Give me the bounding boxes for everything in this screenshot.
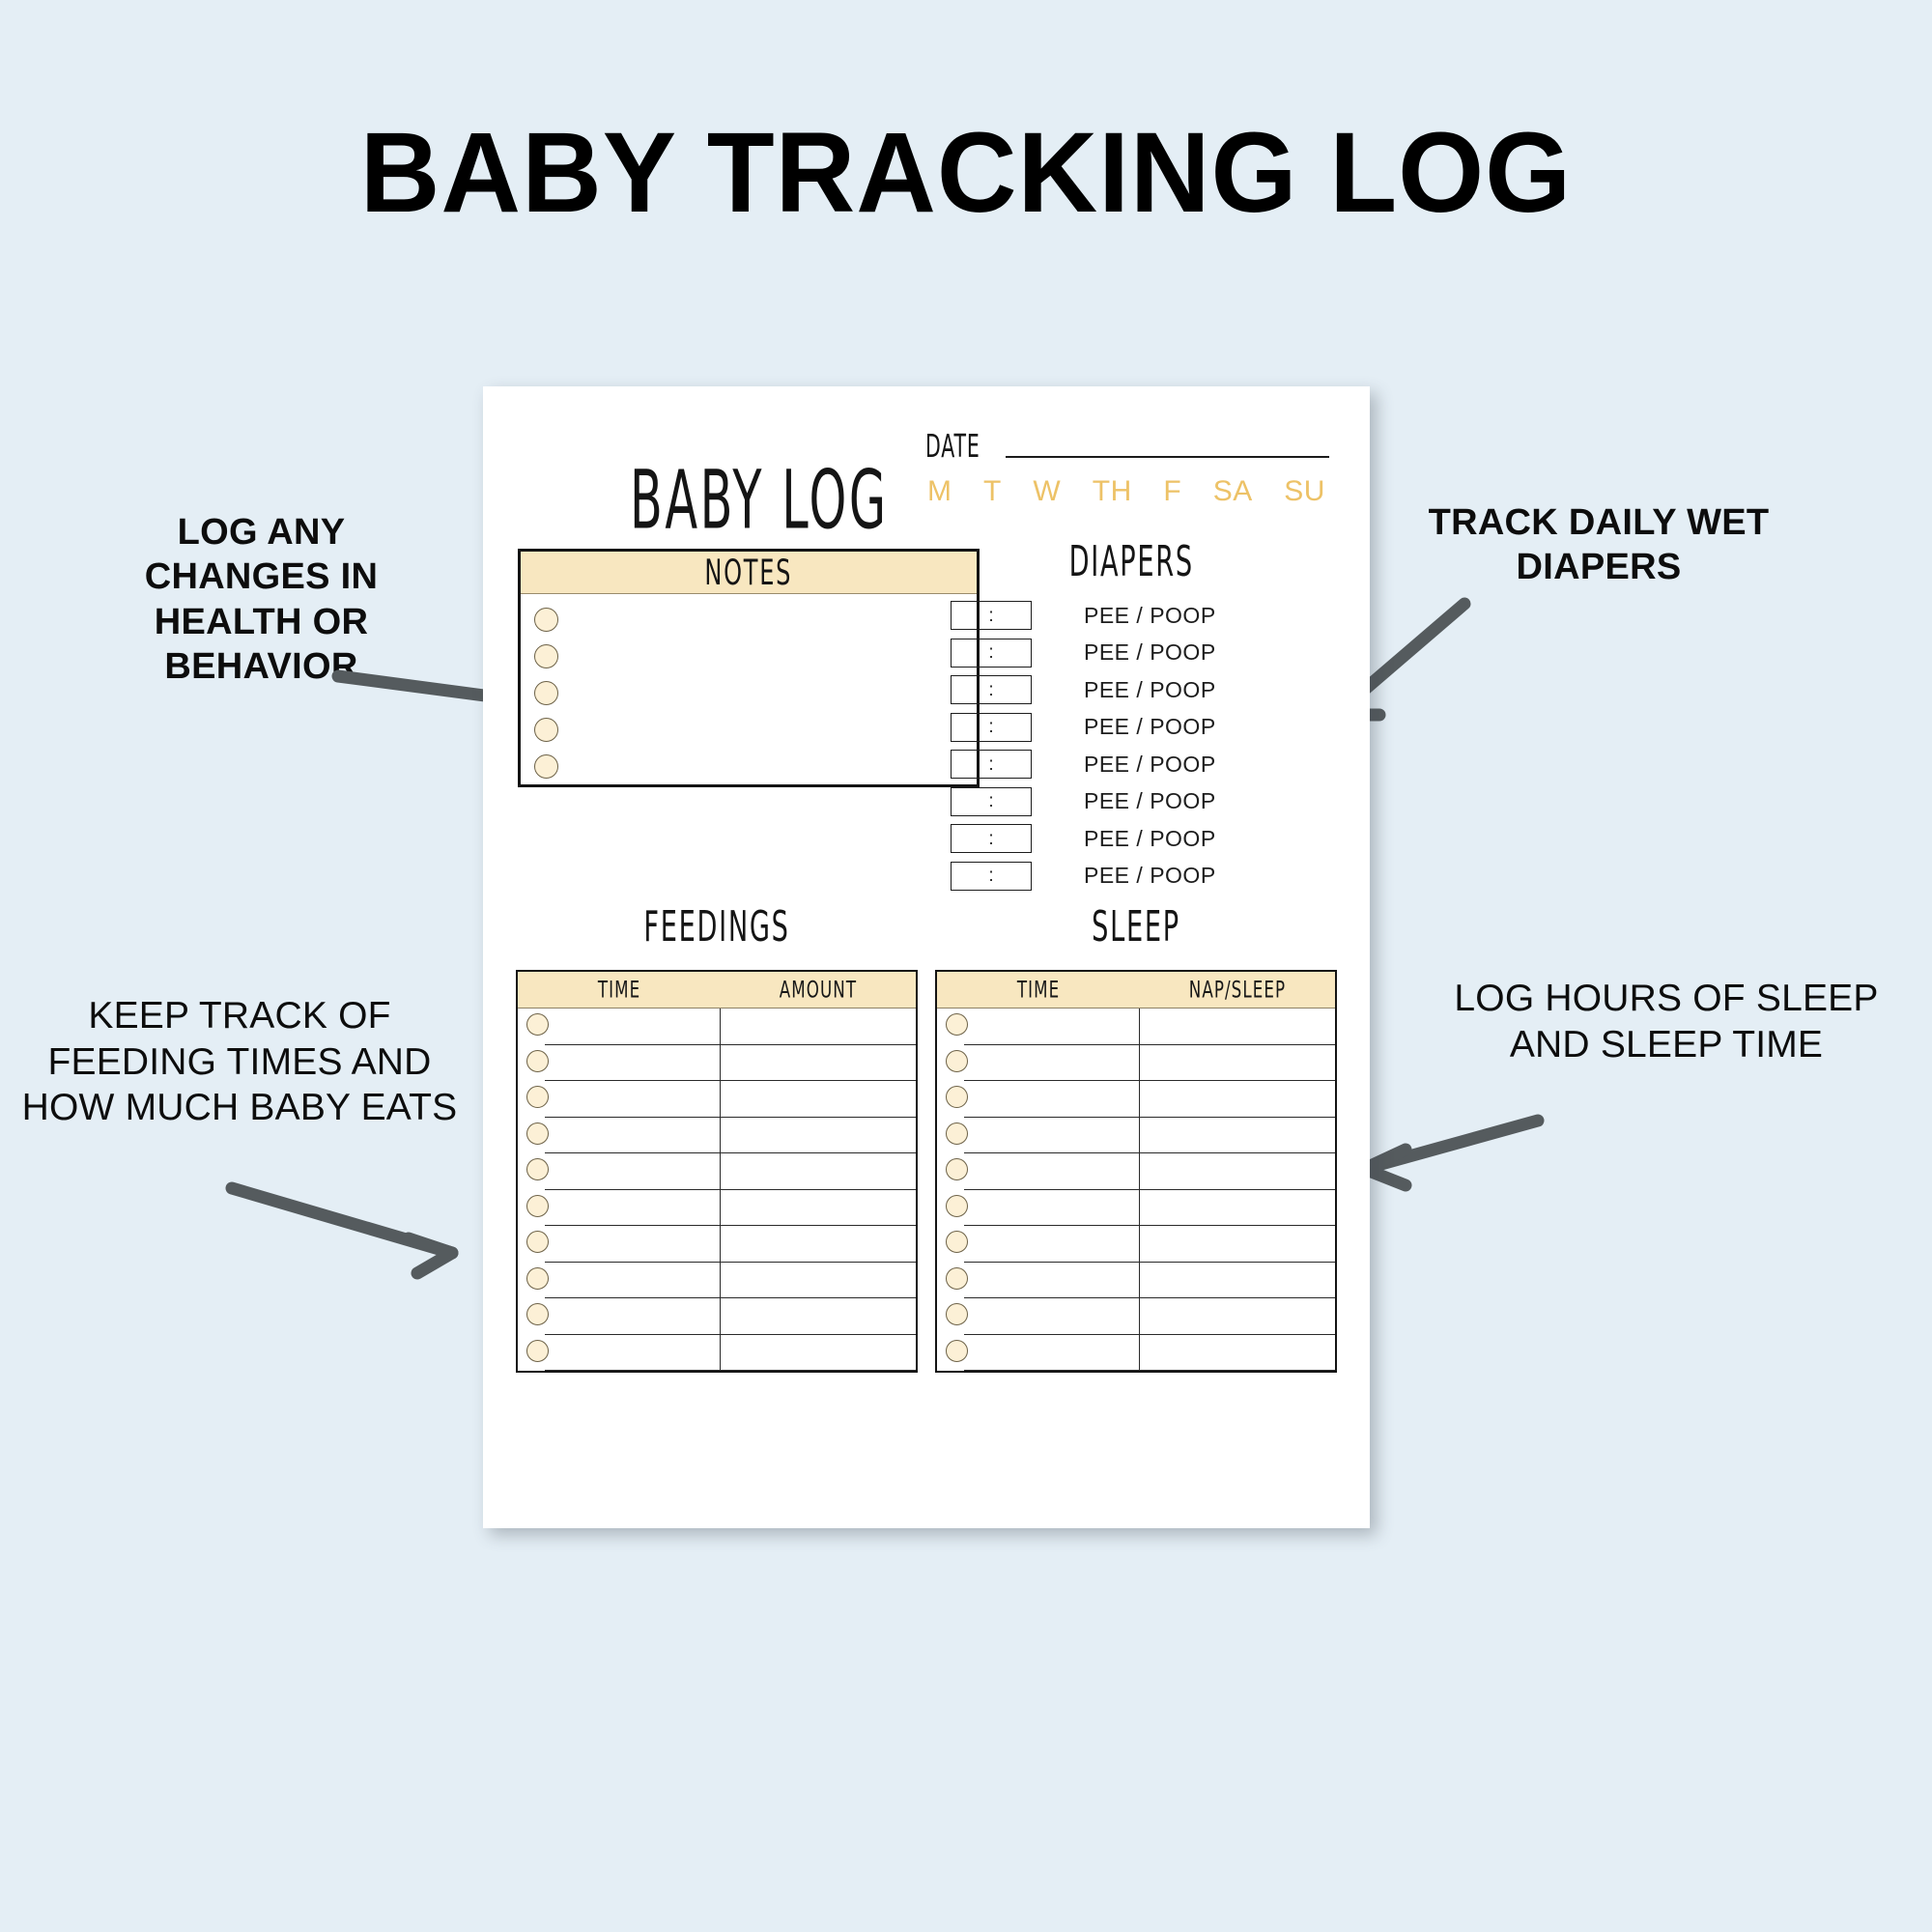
sleep-col-time: TIME bbox=[950, 968, 1128, 1012]
diaper-type-label[interactable]: PEE / POOP bbox=[1084, 677, 1216, 703]
sleep-col-nap: NAP/SLEEP bbox=[1151, 968, 1323, 1012]
diaper-row: :PEE / POOP bbox=[951, 824, 1337, 853]
diaper-time-input[interactable]: : bbox=[951, 787, 1032, 816]
feedings-block: FEEDINGS TIME AMOUNT bbox=[516, 908, 918, 1373]
diaper-time-input[interactable]: : bbox=[951, 750, 1032, 779]
row-time-cell[interactable] bbox=[518, 1118, 721, 1154]
feedings-col-amount: AMOUNT bbox=[732, 968, 904, 1012]
notes-bullet[interactable] bbox=[534, 681, 558, 705]
row-time-cell[interactable] bbox=[518, 1226, 721, 1263]
row-time-cell[interactable] bbox=[518, 1009, 721, 1045]
feedings-row bbox=[518, 1045, 916, 1082]
row-time-cell[interactable] bbox=[937, 1081, 1140, 1118]
row-bullet[interactable] bbox=[526, 1122, 549, 1145]
row-value-cell[interactable] bbox=[721, 1009, 916, 1045]
feedings-row bbox=[518, 1298, 916, 1335]
feedings-row bbox=[518, 1226, 916, 1263]
row-time-cell[interactable] bbox=[518, 1190, 721, 1227]
row-time-cell[interactable] bbox=[937, 1153, 1140, 1190]
row-time-cell[interactable] bbox=[518, 1335, 721, 1372]
diaper-time-input[interactable]: : bbox=[951, 713, 1032, 742]
weekday-t[interactable]: T bbox=[983, 475, 1002, 508]
row-time-cell[interactable] bbox=[518, 1045, 721, 1082]
diaper-type-label[interactable]: PEE / POOP bbox=[1084, 863, 1216, 889]
weekday-su[interactable]: SU bbox=[1284, 475, 1325, 508]
notes-bullet[interactable] bbox=[534, 608, 558, 632]
sleep-row bbox=[937, 1118, 1335, 1154]
weekday-f[interactable]: F bbox=[1163, 475, 1181, 508]
sleep-row bbox=[937, 1263, 1335, 1299]
row-bullet[interactable] bbox=[946, 1340, 968, 1362]
baby-log-sheet: BABY LOG DATE M T W TH F SA SU bbox=[483, 386, 1370, 1528]
sleep-row bbox=[937, 1190, 1335, 1227]
row-time-cell[interactable] bbox=[518, 1081, 721, 1118]
diaper-type-label[interactable]: PEE / POOP bbox=[1084, 788, 1216, 814]
row-rule bbox=[545, 1370, 916, 1371]
sheet-bottom-row: FEEDINGS TIME AMOUNT SLEEP TIME NAP/SLEE… bbox=[516, 908, 1337, 1373]
diaper-type-label[interactable]: PEE / POOP bbox=[1084, 603, 1216, 629]
row-value-cell[interactable] bbox=[1140, 1190, 1335, 1227]
sleep-row bbox=[937, 1153, 1335, 1190]
row-bullet[interactable] bbox=[526, 1231, 549, 1253]
sleep-row bbox=[937, 1081, 1335, 1118]
row-bullet[interactable] bbox=[946, 1267, 968, 1290]
weekday-m[interactable]: M bbox=[927, 475, 952, 508]
row-time-cell[interactable] bbox=[518, 1263, 721, 1299]
feedings-row bbox=[518, 1263, 916, 1299]
row-bullet[interactable] bbox=[526, 1013, 549, 1036]
feedings-row bbox=[518, 1190, 916, 1227]
row-value-cell[interactable] bbox=[1140, 1045, 1335, 1082]
weekday-w[interactable]: W bbox=[1033, 475, 1061, 508]
feedings-table: TIME AMOUNT bbox=[516, 970, 918, 1373]
diaper-type-label[interactable]: PEE / POOP bbox=[1084, 826, 1216, 852]
diaper-row: :PEE / POOP bbox=[951, 787, 1337, 816]
annotation-notes: LOG ANY CHANGES IN HEALTH OR BEHAVIOR bbox=[95, 510, 428, 689]
sleep-row bbox=[937, 1335, 1335, 1372]
row-time-cell[interactable] bbox=[937, 1263, 1140, 1299]
row-value-cell[interactable] bbox=[1140, 1009, 1335, 1045]
row-time-cell[interactable] bbox=[518, 1153, 721, 1190]
weekday-selector[interactable]: M T W TH F SA SU bbox=[925, 475, 1329, 508]
sleep-table-header: TIME NAP/SLEEP bbox=[937, 972, 1335, 1009]
row-time-cell[interactable] bbox=[518, 1298, 721, 1335]
weekday-sa[interactable]: SA bbox=[1213, 475, 1253, 508]
sleep-row bbox=[937, 1009, 1335, 1045]
date-block: DATE M T W TH F SA SU bbox=[925, 437, 1329, 508]
row-bullet[interactable] bbox=[946, 1303, 968, 1325]
row-value-cell[interactable] bbox=[1140, 1153, 1335, 1190]
sleep-block: SLEEP TIME NAP/SLEEP bbox=[935, 908, 1337, 1373]
row-time-cell[interactable] bbox=[937, 1190, 1140, 1227]
date-label: DATE bbox=[925, 428, 980, 465]
weekday-th[interactable]: TH bbox=[1093, 475, 1132, 508]
row-time-cell[interactable] bbox=[937, 1335, 1140, 1372]
annotation-diapers: TRACK DAILY WET DIAPERS bbox=[1391, 500, 1806, 590]
row-bullet[interactable] bbox=[526, 1086, 549, 1108]
feedings-table-header: TIME AMOUNT bbox=[518, 972, 916, 1009]
row-bullet[interactable] bbox=[946, 1158, 968, 1180]
row-time-cell[interactable] bbox=[937, 1226, 1140, 1263]
row-value-cell[interactable] bbox=[721, 1335, 916, 1372]
feedings-row bbox=[518, 1081, 916, 1118]
row-bullet[interactable] bbox=[946, 1231, 968, 1253]
row-value-cell[interactable] bbox=[721, 1226, 916, 1263]
row-time-cell[interactable] bbox=[937, 1118, 1140, 1154]
date-input-line[interactable] bbox=[1006, 456, 1329, 458]
row-bullet[interactable] bbox=[946, 1195, 968, 1217]
diaper-type-label[interactable]: PEE / POOP bbox=[1084, 714, 1216, 740]
sleep-title: SLEEP bbox=[965, 901, 1307, 951]
feedings-row bbox=[518, 1335, 916, 1372]
diaper-time-input[interactable]: : bbox=[951, 675, 1032, 704]
row-bullet[interactable] bbox=[526, 1195, 549, 1217]
row-value-cell[interactable] bbox=[721, 1190, 916, 1227]
diaper-row: :PEE / POOP bbox=[951, 713, 1337, 742]
notes-bullet[interactable] bbox=[534, 718, 558, 742]
feedings-row bbox=[518, 1118, 916, 1154]
sheet-title: BABY LOG bbox=[630, 452, 889, 548]
row-rule bbox=[964, 1370, 1335, 1371]
row-value-cell[interactable] bbox=[1140, 1263, 1335, 1299]
diaper-time-input[interactable]: : bbox=[951, 824, 1032, 853]
notes-bullet[interactable] bbox=[534, 644, 558, 668]
feedings-title: FEEDINGS bbox=[546, 901, 888, 951]
sleep-table: TIME NAP/SLEEP bbox=[935, 970, 1337, 1373]
row-value-cell[interactable] bbox=[1140, 1118, 1335, 1154]
sleep-row bbox=[937, 1298, 1335, 1335]
diapers-panel: DIAPERS :PEE / POOP:PEE / POOP:PEE / POO… bbox=[951, 543, 1337, 898]
row-value-cell[interactable] bbox=[721, 1081, 916, 1118]
sleep-table-body bbox=[937, 1009, 1335, 1371]
diaper-row: :PEE / POOP bbox=[951, 862, 1337, 891]
row-value-cell[interactable] bbox=[1140, 1226, 1335, 1263]
diaper-type-label[interactable]: PEE / POOP bbox=[1084, 752, 1216, 778]
annotation-sleep: LOG HOURS OF SLEEP AND SLEEP TIME bbox=[1425, 976, 1908, 1067]
row-bullet[interactable] bbox=[526, 1267, 549, 1290]
notes-panel: NOTES bbox=[518, 549, 980, 787]
notes-body[interactable] bbox=[521, 594, 977, 782]
row-value-cell[interactable] bbox=[721, 1045, 916, 1082]
row-bullet[interactable] bbox=[526, 1050, 549, 1072]
annotation-feedings: KEEP TRACK OF FEEDING TIMES AND HOW MUCH… bbox=[17, 993, 462, 1131]
feedings-row bbox=[518, 1009, 916, 1045]
row-time-cell[interactable] bbox=[937, 1009, 1140, 1045]
row-bullet[interactable] bbox=[946, 1050, 968, 1072]
arrow-feedings bbox=[232, 1188, 452, 1253]
row-value-cell[interactable] bbox=[1140, 1081, 1335, 1118]
row-bullet[interactable] bbox=[946, 1122, 968, 1145]
row-value-cell[interactable] bbox=[721, 1263, 916, 1299]
row-bullet[interactable] bbox=[526, 1158, 549, 1180]
diaper-row: :PEE / POOP bbox=[951, 639, 1337, 668]
sleep-row bbox=[937, 1045, 1335, 1082]
diaper-time-input[interactable]: : bbox=[951, 601, 1032, 630]
page-title: BABY TRACKING LOG bbox=[29, 114, 1903, 234]
row-value-cell[interactable] bbox=[1140, 1335, 1335, 1372]
arrow-sleep bbox=[1364, 1121, 1538, 1169]
row-value-cell[interactable] bbox=[721, 1153, 916, 1190]
notes-header: NOTES bbox=[521, 552, 977, 594]
diaper-row: :PEE / POOP bbox=[951, 675, 1337, 704]
row-time-cell[interactable] bbox=[937, 1298, 1140, 1335]
notes-header-label: NOTES bbox=[705, 552, 793, 593]
diapers-list: :PEE / POOP:PEE / POOP:PEE / POOP:PEE / … bbox=[951, 601, 1337, 891]
feedings-row bbox=[518, 1153, 916, 1190]
row-value-cell[interactable] bbox=[1140, 1298, 1335, 1335]
feedings-col-time: TIME bbox=[530, 968, 709, 1012]
diaper-time-input[interactable]: : bbox=[951, 639, 1032, 668]
row-bullet[interactable] bbox=[526, 1303, 549, 1325]
sleep-row bbox=[937, 1226, 1335, 1263]
diaper-type-label[interactable]: PEE / POOP bbox=[1084, 639, 1216, 666]
diaper-time-input[interactable]: : bbox=[951, 862, 1032, 891]
row-value-cell[interactable] bbox=[721, 1118, 916, 1154]
sheet-mid-row: NOTES DIAPERS :PEE / POOP:PEE / POOP:PEE… bbox=[516, 609, 1337, 858]
row-bullet[interactable] bbox=[946, 1013, 968, 1036]
notes-bullet[interactable] bbox=[534, 754, 558, 779]
diaper-row: :PEE / POOP bbox=[951, 601, 1337, 630]
feedings-table-body bbox=[518, 1009, 916, 1371]
row-bullet[interactable] bbox=[526, 1340, 549, 1362]
diaper-row: :PEE / POOP bbox=[951, 750, 1337, 779]
diapers-title: DIAPERS bbox=[980, 536, 1308, 585]
row-value-cell[interactable] bbox=[721, 1298, 916, 1335]
row-bullet[interactable] bbox=[946, 1086, 968, 1108]
row-time-cell[interactable] bbox=[937, 1045, 1140, 1082]
